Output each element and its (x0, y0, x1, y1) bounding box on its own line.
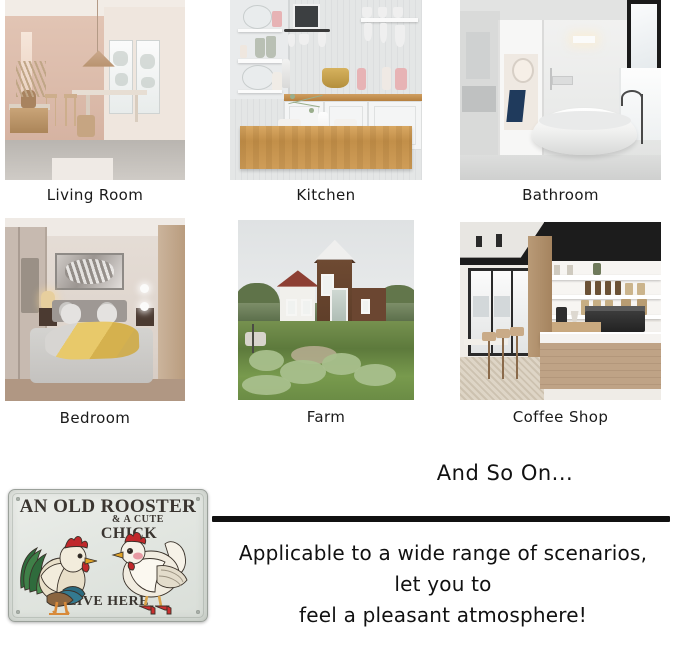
photo-kitchen (230, 0, 422, 180)
horizontal-divider (212, 516, 670, 522)
scenario-gallery: Living Room (0, 0, 679, 448)
blurb-line-2: let you to (212, 569, 674, 600)
gallery-label-living-room: Living Room (5, 186, 185, 204)
tin-sign-product-image[interactable]: AN OLD ROOSTER & A CUTE CHICK LIVE HERE (8, 489, 208, 622)
gallery-label-bathroom: Bathroom (460, 186, 661, 204)
photo-living-room (5, 0, 185, 180)
gallery-cell-living-room[interactable]: Living Room (5, 0, 185, 200)
gallery-label-coffee-shop: Coffee Shop (460, 408, 661, 426)
gallery-label-farm: Farm (238, 408, 414, 426)
gallery-label-kitchen: Kitchen (230, 186, 422, 204)
gallery-cell-bedroom[interactable]: Bedroom (5, 218, 185, 428)
photo-coffee-shop (460, 222, 661, 400)
photo-bathroom (460, 0, 661, 180)
gallery-cell-kitchen[interactable]: Kitchen (230, 0, 422, 200)
gallery-label-bedroom: Bedroom (5, 409, 185, 427)
screw-hole-icon (196, 610, 200, 614)
and-so-on-text: And So On... (340, 461, 670, 485)
blurb-text: Applicable to a wide range of scenarios,… (212, 538, 674, 631)
rooster-illustration (17, 518, 103, 616)
photo-bedroom (5, 218, 185, 401)
gallery-cell-farm[interactable]: Farm (238, 220, 414, 428)
photo-farm (238, 220, 414, 400)
hen-illustration (109, 522, 195, 616)
gallery-cell-bathroom[interactable]: Bathroom (460, 0, 661, 200)
blurb-line-1: Applicable to a wide range of scenarios, (212, 538, 674, 569)
gallery-cell-coffee-shop[interactable]: Coffee Shop (460, 222, 661, 428)
blurb-line-3: feel a pleasant atmosphere! (212, 600, 674, 631)
